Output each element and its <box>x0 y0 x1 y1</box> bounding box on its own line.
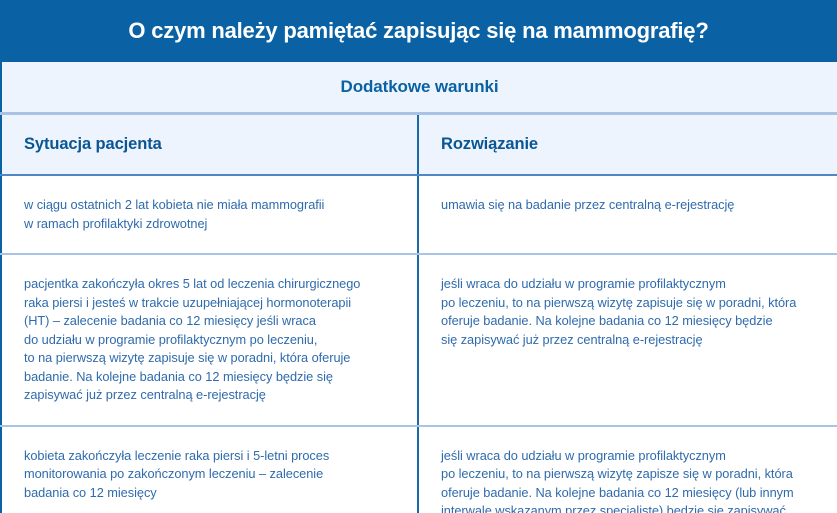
table-cell-situation: pacjentka zakończyła okres 5 lat od lecz… <box>1 254 418 426</box>
situation-text: w ciągu ostatnich 2 lat kobieta nie miał… <box>24 196 387 233</box>
page-title: O czym należy pamiętać zapisując się na … <box>128 18 708 44</box>
table-section-header-label: Dodatkowe warunki <box>341 77 499 96</box>
table-column-header-row: Sytuacja pacjenta Rozwiązanie <box>1 113 837 175</box>
table-cell-solution: umawia się na badanie przez centralną e-… <box>418 175 837 254</box>
table-section-header-row: Dodatkowe warunki <box>1 62 837 113</box>
column-header-situation: Sytuacja pacjenta <box>1 113 418 175</box>
table-cell-solution: jeśli wraca do udziału w programie profi… <box>418 426 837 513</box>
solution-text: jeśli wraca do udziału w programie profi… <box>441 275 815 349</box>
table-row: kobieta zakończyła leczenie raka piersi … <box>1 426 837 513</box>
situation-text: kobieta zakończyła leczenie raka piersi … <box>24 447 387 503</box>
solution-text: jeśli wraca do udziału w programie profi… <box>441 447 815 513</box>
conditions-table: Dodatkowe warunki Sytuacja pacjenta Rozw… <box>0 62 837 513</box>
table-cell-solution: jeśli wraca do udziału w programie profi… <box>418 254 837 426</box>
table-section-header-cell: Dodatkowe warunki <box>1 62 837 113</box>
page-banner: O czym należy pamiętać zapisując się na … <box>0 0 837 62</box>
table-row: w ciągu ostatnich 2 lat kobieta nie miał… <box>1 175 837 254</box>
infographic-page: O czym należy pamiętać zapisując się na … <box>0 0 837 513</box>
column-header-solution: Rozwiązanie <box>418 113 837 175</box>
situation-text: pacjentka zakończyła okres 5 lat od lecz… <box>24 275 387 405</box>
table-cell-situation: w ciągu ostatnich 2 lat kobieta nie miał… <box>1 175 418 254</box>
table-row: pacjentka zakończyła okres 5 lat od lecz… <box>1 254 837 426</box>
column-header-situation-label: Sytuacja pacjenta <box>24 135 162 153</box>
table-cell-situation: kobieta zakończyła leczenie raka piersi … <box>1 426 418 513</box>
solution-text: umawia się na badanie przez centralną e-… <box>441 196 815 215</box>
column-header-solution-label: Rozwiązanie <box>441 135 538 153</box>
